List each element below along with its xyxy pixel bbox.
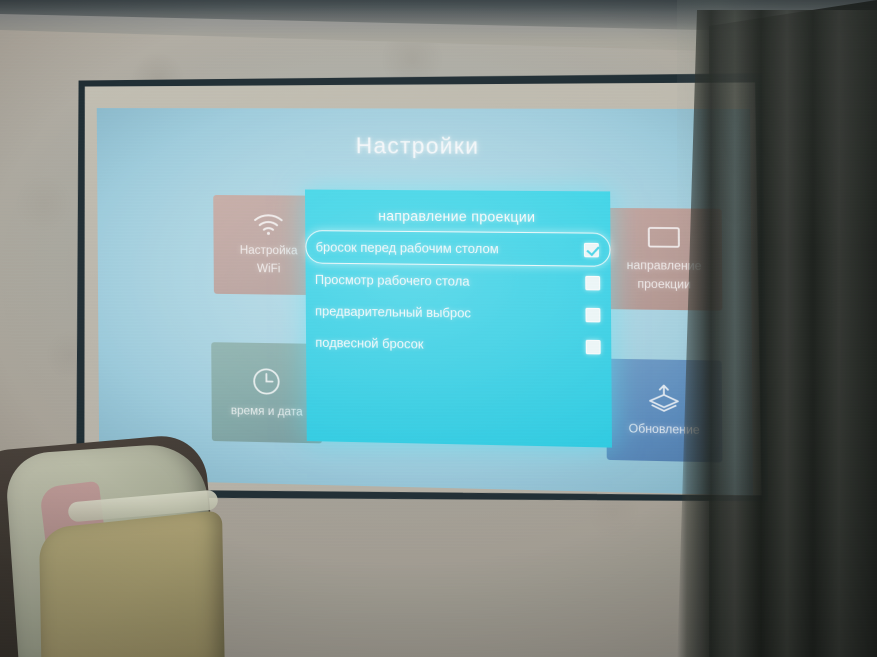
- option-label: подвесной бросок: [315, 335, 586, 354]
- option-checkbox[interactable]: [585, 275, 600, 290]
- tile-time-label-line1: время и дата: [227, 405, 307, 420]
- projection-direction-dialog: направление проекции бросок перед рабочи…: [305, 189, 612, 447]
- option-row-front-desktop[interactable]: бросок перед рабочим столом: [305, 230, 610, 267]
- curtains: [677, 10, 877, 657]
- tile-projection-label-line2: проекции: [633, 278, 695, 292]
- tile-wifi-label-line1: Настройка: [236, 245, 302, 259]
- option-checkbox[interactable]: [586, 339, 601, 354]
- option-checkbox[interactable]: [585, 307, 600, 322]
- page-title: Настройки: [97, 132, 751, 161]
- option-label: бросок перед рабочим столом: [316, 240, 584, 257]
- projection-direction-option-list: бросок перед рабочим столом Просмотр раб…: [305, 230, 611, 363]
- option-row-front-ceiling[interactable]: предварительный выброс: [306, 295, 611, 331]
- option-label: предварительный выброс: [315, 304, 586, 322]
- tile-wifi-label-line2: WiFi: [253, 263, 285, 277]
- wifi-icon: [253, 213, 284, 240]
- option-row-rear-desktop[interactable]: Просмотр рабочего стола: [306, 264, 611, 299]
- room-photo-scene: Настройки Настройка WiFi: [0, 0, 877, 657]
- option-row-rear-ceiling[interactable]: подвесной бросок: [306, 326, 611, 362]
- monitor-icon: [647, 226, 681, 255]
- dialog-title: направление проекции: [305, 208, 610, 226]
- update-upload-icon: [647, 383, 682, 419]
- option-checkbox-checked[interactable]: [584, 242, 599, 257]
- sofa-foreground: [0, 424, 256, 657]
- option-label: Просмотр рабочего стола: [315, 272, 586, 290]
- clock-icon: [251, 366, 282, 401]
- sofa-seat: [39, 510, 225, 657]
